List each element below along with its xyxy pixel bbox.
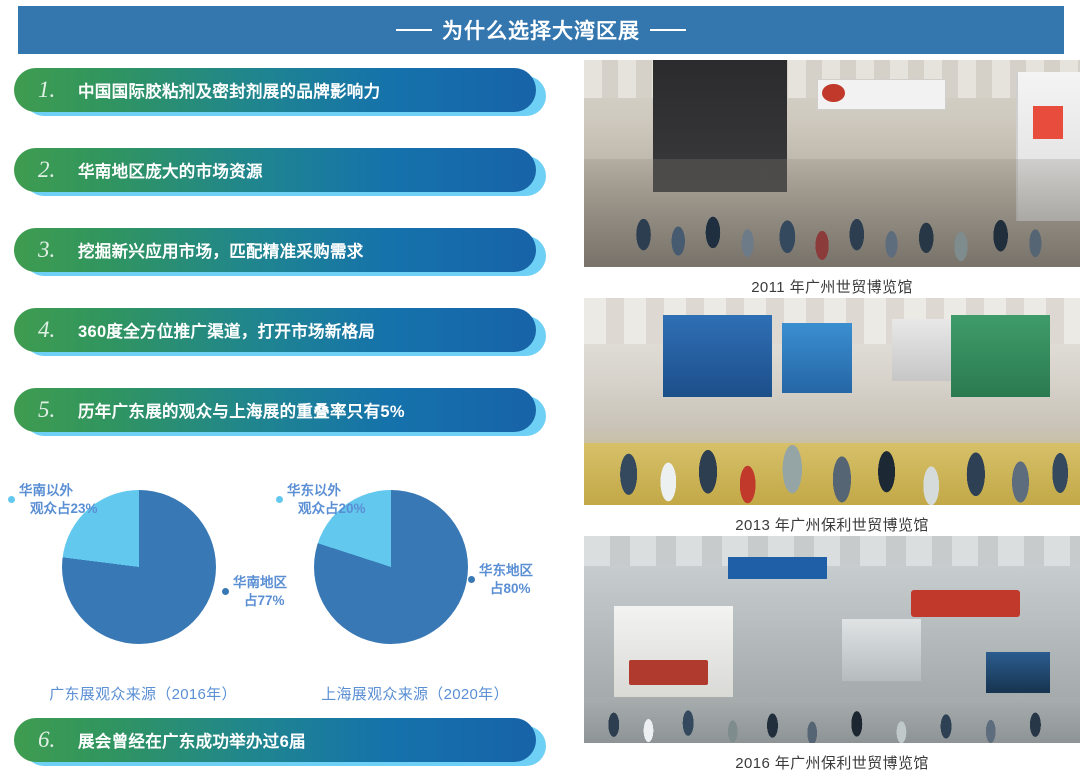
reason-item-2[interactable]: 2. 华南地区庞大的市场资源 <box>14 148 546 196</box>
reason-item-4[interactable]: 4. 360度全方位推广渠道，打开市场新格局 <box>14 308 546 356</box>
reason-number: 3. <box>38 237 78 263</box>
pie-chart-title: 上海展观众来源（2020年） <box>272 683 558 704</box>
reason-text: 挖掘新兴应用市场，匹配精准采购需求 <box>78 238 364 262</box>
callout-line-2: 观众占20% <box>287 500 366 518</box>
callout-line-1: 华南以外 <box>19 482 98 500</box>
photo-caption: 2013 年广州保利世贸博览馆 <box>584 505 1080 535</box>
photo-card-2011: 2011 年广州世贸博览馆 <box>584 60 1080 297</box>
photo-crowd <box>584 377 1080 505</box>
reason-number: 1. <box>38 77 78 103</box>
header-rule-left-icon <box>396 29 432 31</box>
pill-body[interactable]: 1. 中国国际胶粘剂及密封剂展的品牌影响力 <box>14 68 536 112</box>
reason-text: 华南地区庞大的市场资源 <box>78 158 263 182</box>
photo-registration-sign <box>817 79 946 110</box>
reason-item-1[interactable]: 1. 中国国际胶粘剂及密封剂展的品牌影响力 <box>14 68 546 116</box>
reason-number: 2. <box>38 157 78 183</box>
reason-number: 4. <box>38 317 78 343</box>
callout-line-1: 华东以外 <box>287 482 366 500</box>
photo-card-2013: 2013 年广州保利世贸博览馆 <box>584 298 1080 535</box>
reason-item-5[interactable]: 5. 历年广东展的观众与上海展的重叠率只有5% <box>14 388 546 436</box>
legend-bullet-icon <box>222 588 229 595</box>
legend-bullet-icon <box>276 496 283 503</box>
photo-crowd <box>584 660 1080 743</box>
photo-card-2016: 2016 年广州保利世贸博览馆 <box>584 536 1080 773</box>
pill-body[interactable]: 3. 挖掘新兴应用市场，匹配精准采购需求 <box>14 228 536 272</box>
legend-bullet-icon <box>468 576 475 583</box>
legend-bullet-icon <box>8 496 15 503</box>
pie-chart-title: 广东展观众来源（2016年） <box>0 683 286 704</box>
pie-chart-guangdong: 华南以外观众占23% 华南地区占77% 广东展观众来源（2016年） <box>0 470 286 710</box>
pill-body[interactable]: 6. 展会曾经在广东成功举办过6届 <box>14 718 536 762</box>
pie-callout-outside: 华南以外观众占23% <box>8 482 98 518</box>
photo-caption: 2016 年广州保利世贸博览馆 <box>584 743 1080 773</box>
photo-arrow-sign <box>1033 106 1063 139</box>
reason-text: 历年广东展的观众与上海展的重叠率只有5% <box>78 398 405 422</box>
pie-chart-shanghai: 华东以外观众占20% 华东地区占80% 上海展观众来源（2020年） <box>272 470 558 710</box>
photo-crowd <box>584 159 1080 267</box>
photo-booth-d <box>892 319 952 381</box>
charts-block: 华南以外观众占23% 华南地区占77% 广东展观众来源（2016年） 华东以外观… <box>0 470 572 710</box>
pill-body[interactable]: 5. 历年广东展的观众与上海展的重叠率只有5% <box>14 388 536 432</box>
reason-item-6[interactable]: 6. 展会曾经在广东成功举办过6届 <box>14 718 546 766</box>
callout-line-2: 占80% <box>479 580 533 598</box>
reason-number: 6. <box>38 727 78 753</box>
header-rule-right-icon <box>650 29 686 31</box>
exhibition-booths-photo <box>584 536 1080 743</box>
pie-callout-outside: 华东以外观众占20% <box>276 482 366 518</box>
pill-body[interactable]: 2. 华南地区庞大的市场资源 <box>14 148 536 192</box>
reason-item-3[interactable]: 3. 挖掘新兴应用市场，匹配精准采购需求 <box>14 228 546 276</box>
callout-line-2: 观众占23% <box>19 500 98 518</box>
right-column: 2011 年广州世贸博览馆 2013 年广州保利世贸博览馆 <box>584 60 1080 784</box>
exhibition-entrance-photo <box>584 60 1080 267</box>
reason-text: 展会曾经在广东成功举办过6届 <box>78 728 306 752</box>
photo-sign-red <box>911 590 1020 617</box>
page-title: 为什么选择大湾区展 <box>442 15 640 45</box>
photo-caption: 2011 年广州世贸博览馆 <box>584 267 1080 297</box>
photo-ceiling <box>584 536 1080 566</box>
reason-text: 360度全方位推广渠道，打开市场新格局 <box>78 318 375 342</box>
exhibition-aisle-photo <box>584 298 1080 505</box>
pill-body[interactable]: 4. 360度全方位推广渠道，打开市场新格局 <box>14 308 536 352</box>
poster-page: 为什么选择大湾区展 1. 中国国际胶粘剂及密封剂展的品牌影响力 2. 华南地区庞… <box>0 0 1080 784</box>
header-inner: 为什么选择大湾区展 <box>396 15 686 45</box>
pie-callout-main: 华东地区占80% <box>468 562 533 598</box>
photo-sign-blue <box>728 557 827 580</box>
photo-sign-badge <box>822 84 845 102</box>
reason-text: 中国国际胶粘剂及密封剂展的品牌影响力 <box>78 78 380 102</box>
reason-number: 5. <box>38 397 78 423</box>
callout-line-1: 华东地区 <box>479 562 533 580</box>
left-column: 1. 中国国际胶粘剂及密封剂展的品牌影响力 2. 华南地区庞大的市场资源 3. … <box>0 60 572 784</box>
header-banner: 为什么选择大湾区展 <box>18 6 1064 54</box>
